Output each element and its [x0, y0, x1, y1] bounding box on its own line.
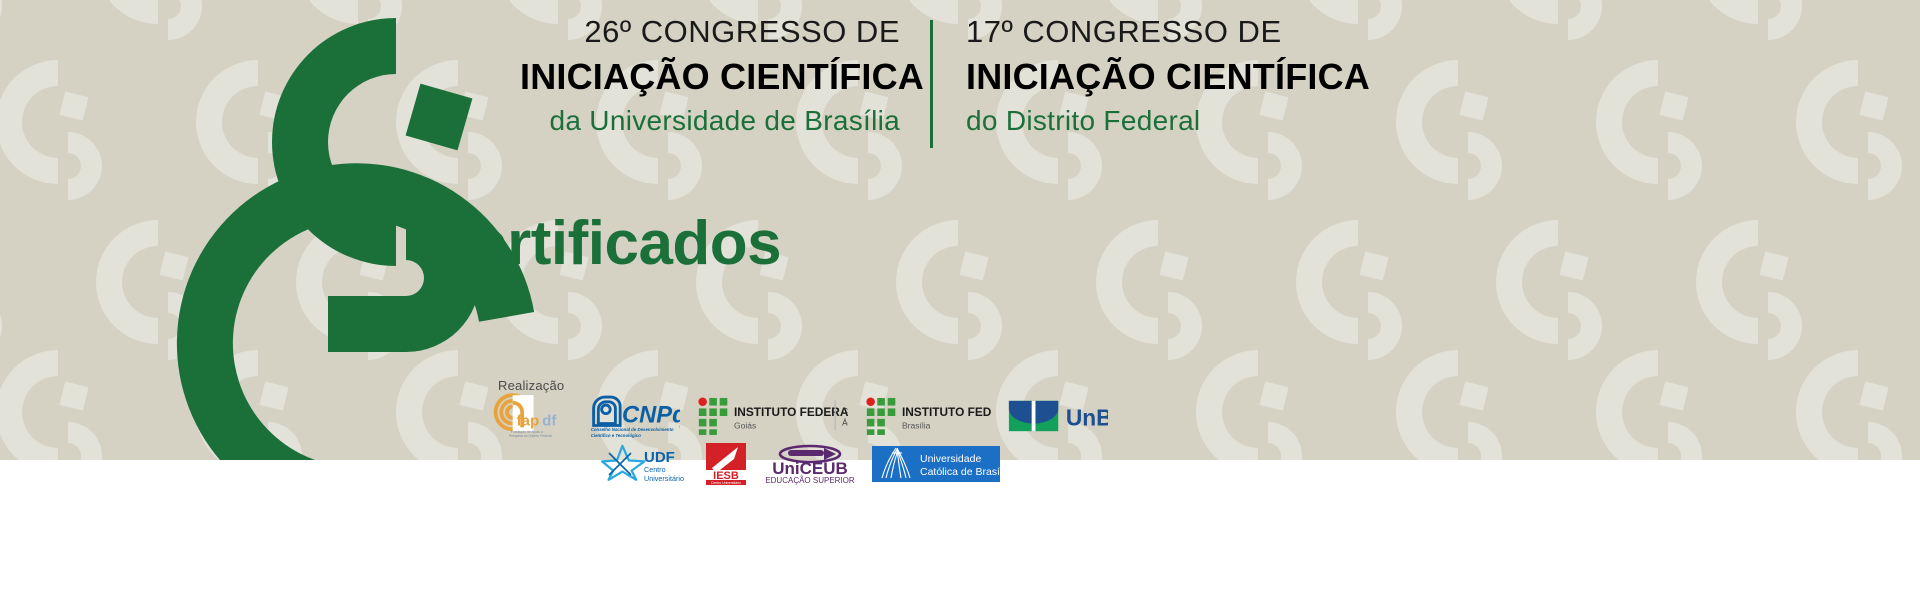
instituto-federal-goias-logo[interactable]: INSTITUTO FEDERAL Goiás Câmpus Águas Lin…	[696, 393, 848, 439]
realizacao-label: Realização	[498, 378, 564, 393]
svg-text:Centro: Centro	[644, 465, 666, 474]
congress-df-edition: 17º CONGRESSO DE	[966, 12, 1436, 52]
svg-text:INSTITUTO FEDERAL: INSTITUTO FEDERAL	[902, 405, 991, 419]
svg-text:Católica de Brasília: Católica de Brasília	[920, 466, 1000, 478]
svg-text:Goiás: Goiás	[734, 420, 756, 430]
sponsor-row-1: fap df Fundação de Apoio à Pesquisa do D…	[488, 392, 1108, 440]
svg-text:df: df	[542, 412, 557, 429]
sponsor-row-2: UDF Centro Universitário IESB Centro Uni…	[600, 443, 1010, 485]
svg-text:EDUCAÇÃO SUPERIOR: EDUCAÇÃO SUPERIOR	[765, 476, 855, 485]
svg-text:Universidade: Universidade	[920, 453, 981, 465]
svg-text:fap: fap	[516, 412, 539, 429]
svg-text:UDF: UDF	[644, 449, 675, 466]
uniceub-logo[interactable]: UniCEUB EDUCAÇÃO SUPERIOR	[762, 443, 858, 485]
universidade-catolica-brasilia-logo[interactable]: Universidade Católica de Brasília	[872, 446, 1000, 482]
congress-header: 26º CONGRESSO DE INICIAÇÃO CIENTÍFICA da…	[520, 12, 1520, 152]
svg-text:INSTITUTO FEDERAL: INSTITUTO FEDERAL	[734, 405, 848, 419]
fapdf-caption-2: Pesquisa do Distrito Federal	[509, 434, 552, 438]
fapdf-logo[interactable]: fap df Fundação de Apoio à Pesquisa do D…	[488, 392, 570, 440]
instituto-federal-brasilia-logo[interactable]: INSTITUTO FEDERAL Brasília	[864, 393, 991, 439]
congress-df-title: INICIAÇÃO CIENTÍFICA	[966, 52, 1436, 102]
svg-text:Universitário: Universitário	[644, 474, 684, 483]
svg-text:Centro Universitário: Centro Universitário	[711, 481, 741, 485]
iesb-logo[interactable]: IESB Centro Universitário	[704, 442, 748, 486]
svg-text:Câmpus: Câmpus	[843, 407, 849, 416]
svg-text:UnB: UnB	[1066, 404, 1108, 430]
svg-text:Águas Lindas: Águas Lindas	[843, 417, 849, 427]
congress-df-subtitle: do Distrito Federal	[966, 102, 1436, 140]
unb-logo[interactable]: UnB	[1007, 394, 1108, 438]
svg-text:Brasília: Brasília	[902, 420, 931, 430]
udf-logo[interactable]: UDF Centro Universitário	[600, 443, 690, 485]
cnpq-logo[interactable]: CNPq Conselho Nacional de Desenvolviment…	[586, 392, 681, 440]
congress-df-block: 17º CONGRESSO DE INICIAÇÃO CIENTÍFICA do…	[933, 12, 1436, 140]
cnpq-caption-2: Científico e Tecnológico	[590, 433, 641, 438]
svg-text:CNPq: CNPq	[622, 403, 681, 429]
cnpq-caption-1: Conselho Nacional de Desenvolvimento	[590, 427, 673, 432]
